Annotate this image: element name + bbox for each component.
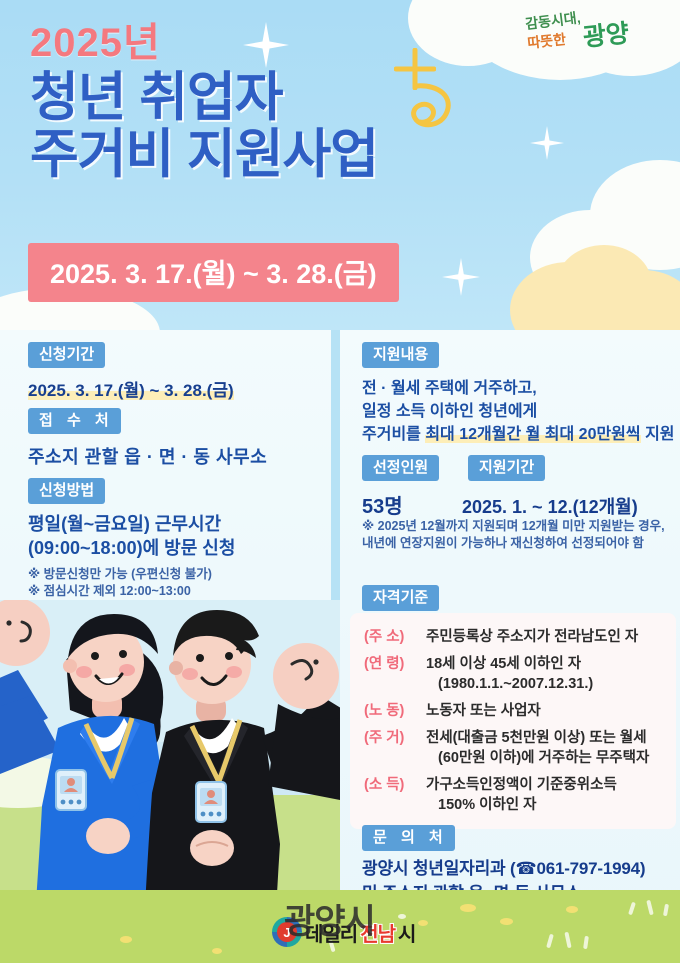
grass-blade <box>646 900 654 916</box>
qualification-card: (주 소) 주민등록상 주소지가 전라남도인 자 (연 령) 18세 이상 45… <box>350 613 676 829</box>
support-content-line-3: 주거비를 최대 12개월간 월 최대 20만원씩 지원 <box>362 424 675 447</box>
title-line-1: 청년 취업자 <box>30 68 550 127</box>
qualification-key: (주 거) <box>364 728 426 768</box>
right-column: 지원내용 전 · 월세 주택에 거주하고, 일정 소득 이하인 청년에게 주거비… <box>340 330 680 963</box>
qualification-row: (소 득) 가구소득인정액이 기준중위소득150% 이하인 자 <box>364 775 664 815</box>
qualification-row: (노 동) 노동자 또는 사업자 <box>364 701 664 721</box>
qualification-value-sub: 150% 이하인 자 <box>426 795 617 815</box>
qualification-row: (주 소) 주민등록상 주소지가 전라남도인 자 <box>364 627 664 647</box>
brand-city-text: 광양 <box>582 19 631 52</box>
cloud-decoration-yellow <box>556 245 652 325</box>
qualification-value-main: 주민등록상 주소지가 전라남도인 자 <box>426 629 638 645</box>
badge-reception-office: 접 수 처 <box>28 408 121 434</box>
application-method-line-1: 평일(월~금요일) 근무시간 <box>28 513 257 537</box>
grass-blade <box>546 934 554 949</box>
badge-application-method: 신청방법 <box>28 478 105 504</box>
application-method-line-2: (09:00~18:00)에 방문 신청 <box>28 537 257 561</box>
badge-application-period: 신청기간 <box>28 342 105 368</box>
selection-count-value: 53명 <box>362 490 462 519</box>
support-content-highlight: 최대 12개월간 월 최대 20만원씩 <box>425 426 640 443</box>
section-qualification: 자격기준 <box>362 585 439 611</box>
section-support-content: 지원내용 전 · 월세 주택에 거주하고, 일정 소득 이하인 청년에게 주거비… <box>362 342 675 446</box>
title-line-2: 주거비 지원사업 <box>30 125 550 184</box>
qualification-value-main: 전세(대출금 5천만원 이상) 또는 월세 <box>426 730 647 746</box>
support-duration-value: 2025. 1. ~ 12.(12개월) <box>462 497 638 517</box>
title-block: 2025년 청년 취업자 주거비 지원사업 <box>30 22 550 185</box>
badge-support-duration: 지원기간 <box>468 455 545 481</box>
badge-qualification: 자격기준 <box>362 585 439 611</box>
support-content-line-1: 전 · 월세 주택에 거주하고, <box>362 378 675 401</box>
qualification-value-sub: (60만원 이하)에 거주하는 무주택자 <box>426 748 649 768</box>
application-method-note: ※ 점심시간 제외 12:00~13:00 <box>28 583 257 600</box>
qualification-value: 주민등록상 주소지가 전라남도인 자 <box>426 627 638 647</box>
poster-header: 감동시대, 따뜻한 광양 2025년 청년 취업자 주거비 지원사업 2025.… <box>0 0 680 330</box>
section-contact: 문 의 처 <box>362 825 455 851</box>
reception-office-value: 주소지 관할 읍 · 면 · 동 사무소 <box>28 443 267 469</box>
application-period-value: 2025. 3. 17.(월) ~ 3. 28.(금) <box>28 381 234 400</box>
grass-blade <box>628 902 636 916</box>
grass-blade <box>583 936 589 949</box>
badge-contact: 문 의 처 <box>362 825 455 851</box>
grass-blade <box>663 904 669 917</box>
section-application-period: 신청기간 2025. 3. 17.(월) ~ 3. 28.(금) <box>28 342 234 401</box>
grass-blade <box>564 932 571 948</box>
qualification-value-main: 노동자 또는 사업자 <box>426 703 541 719</box>
sparkle-icon <box>442 258 480 296</box>
grass-dot <box>566 906 578 913</box>
support-content-line3-post: 지원 <box>641 426 675 443</box>
year-label: 2025년 <box>30 22 550 64</box>
section-reception-office: 접 수 처 주소지 관할 읍 · 면 · 동 사무소 <box>28 408 267 469</box>
qualification-key: (주 소) <box>364 627 426 647</box>
support-content-line3-pre: 주거비를 <box>362 426 425 443</box>
date-banner: 2025. 3. 17.(월) ~ 3. 28.(금) <box>28 243 399 302</box>
qualification-value: 가구소득인정액이 기준중위소득150% 이하인 자 <box>426 775 617 815</box>
grass-dot <box>500 918 513 925</box>
section-selection-count: 선정인원 <box>362 455 439 481</box>
support-duration-note: ※ 2025년 12월까지 지원되며 12개월 미만 지원받는 경우, 내년에 … <box>362 518 674 552</box>
poster-root: 감동시대, 따뜻한 광양 2025년 청년 취업자 주거비 지원사업 2025.… <box>0 0 680 963</box>
selection-and-duration-values: 53명2025. 1. ~ 12.(12개월) <box>362 490 672 519</box>
qualification-value: 전세(대출금 5천만원 이상) 또는 월세(60만원 이하)에 거주하는 무주택… <box>426 728 649 768</box>
support-content-line-2: 일정 소득 이하인 청년에게 <box>362 401 675 424</box>
person-right-partial <box>268 643 340 800</box>
watermark-text-3: 시 <box>398 918 415 947</box>
qualification-value: 18세 이상 45세 이하인 자(1980.1.1.~2007.12.31.) <box>426 654 593 694</box>
contact-line-1: 광양시 청년일자리과 (☎061-797-1994) <box>362 857 645 882</box>
grass-dot <box>212 948 222 954</box>
grass-dot <box>120 936 132 943</box>
badge-selection-count: 선정인원 <box>362 455 439 481</box>
qualification-key: (연 령) <box>364 654 426 694</box>
section-application-method: 신청방법 평일(월~금요일) 근무시간 (09:00~18:00)에 방문 신청… <box>28 478 257 616</box>
section-support-duration: 지원기간 <box>468 455 545 481</box>
qualification-value-main: 18세 이상 45세 이하인 자 <box>426 656 581 672</box>
qualification-value-main: 가구소득인정액이 기준중위소득 <box>426 777 617 793</box>
qualification-row: (연 령) 18세 이상 45세 이하인 자(1980.1.1.~2007.12… <box>364 654 664 694</box>
qualification-value: 노동자 또는 사업자 <box>426 701 541 721</box>
qualification-key: (소 득) <box>364 775 426 815</box>
qualification-value-sub: (1980.1.1.~2007.12.31.) <box>426 674 593 694</box>
application-method-note: ※ 방문신청만 가능 (우편신청 불가) <box>28 566 257 583</box>
qualification-key: (노 동) <box>364 701 426 721</box>
qualification-row: (주 거) 전세(대출금 5천만원 이상) 또는 월세(60만원 이하)에 거주… <box>364 728 664 768</box>
badge-support-content: 지원내용 <box>362 342 439 368</box>
grass-dot <box>460 904 476 912</box>
city-text-background: 광양시 <box>284 894 375 943</box>
